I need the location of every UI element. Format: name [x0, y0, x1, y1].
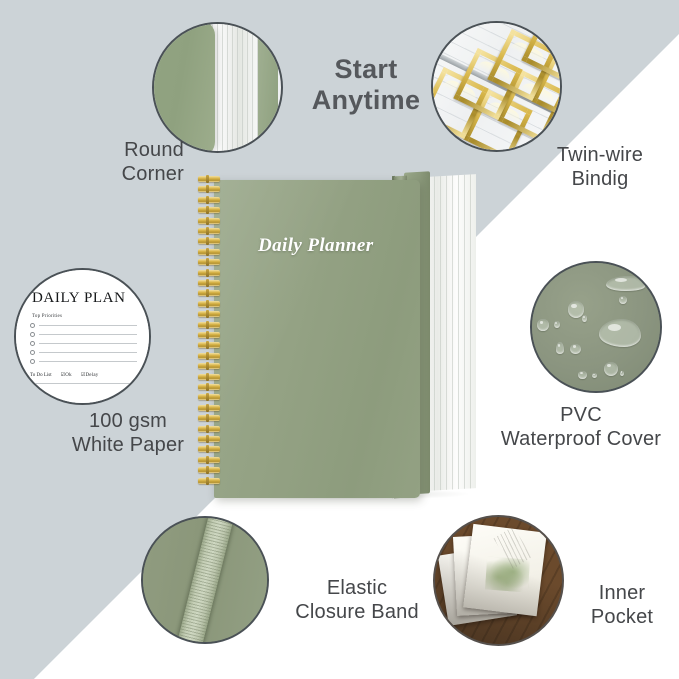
spiral-coil — [198, 186, 220, 192]
spiral-coil — [198, 301, 220, 307]
water-droplet — [604, 362, 618, 376]
spiral-coil — [198, 249, 220, 255]
feature-label-round-corner: Round Corner — [56, 138, 184, 187]
water-droplet — [582, 315, 587, 321]
water-droplet — [620, 371, 624, 376]
spiral-coil — [198, 238, 220, 244]
water-droplet — [556, 342, 564, 354]
daily-plan-title: DAILY PLAN — [32, 290, 137, 307]
spiral-coil — [198, 342, 220, 348]
spiral-coil — [198, 436, 220, 442]
round-corner-icon — [152, 22, 283, 153]
notebook-spiral-binding — [198, 176, 220, 494]
daily-plan-sheet-body: DAILY PLAN Top Priorities — [16, 270, 149, 403]
spiral-coil — [198, 384, 220, 390]
water-droplet — [606, 276, 644, 291]
daily-plan-footer: To Do List ☑Ok ☑Delay — [30, 372, 137, 378]
notebook-cover-sheen — [214, 180, 420, 498]
spiral-coil — [198, 353, 220, 359]
headline-start-anytime: Start Anytime — [306, 54, 426, 116]
water-droplet — [570, 344, 580, 354]
daily-plan-write-line — [39, 334, 137, 335]
daily-plan-write-line — [39, 343, 137, 344]
bullet-icon — [30, 332, 35, 337]
feature-label-pvc-waterproof: PVC Waterproof Cover — [486, 403, 676, 452]
twin-wire-binding-icon — [431, 21, 562, 152]
notebook-product-photo: Daily Planner — [196, 172, 478, 497]
daily-plan-write-line — [39, 361, 137, 362]
spiral-coil — [198, 457, 220, 463]
feature-label-white-paper: 100 gsm White Paper — [52, 409, 204, 458]
round-corner-page-lines — [212, 22, 258, 153]
inner-pocket-cards-icon — [433, 515, 564, 646]
spiral-coil — [198, 218, 220, 224]
daily-plan-write-line — [39, 325, 137, 326]
daily-plan-row — [30, 332, 137, 337]
water-droplet — [619, 296, 627, 304]
spiral-coil — [198, 280, 220, 286]
spiral-coil — [198, 270, 220, 276]
bullet-icon — [30, 341, 35, 346]
water-droplet — [537, 319, 549, 331]
daily-plan-row — [30, 359, 137, 364]
daily-plan-row — [30, 341, 137, 346]
daily-plan-write-line — [39, 352, 137, 353]
bullet-icon — [30, 350, 35, 355]
daily-plan-footer-label: To Do List — [30, 373, 52, 378]
spiral-coil — [198, 322, 220, 328]
spiral-coil — [198, 446, 220, 452]
spiral-coil — [198, 311, 220, 317]
pocket-shadow — [435, 517, 562, 644]
notebook-cover-title: Daily Planner — [258, 235, 408, 257]
daily-plan-section-label: Top Priorities — [32, 314, 137, 319]
spiral-coil — [198, 394, 220, 400]
spiral-coil — [198, 332, 220, 338]
feature-label-elastic-band: Elastic Closure Band — [262, 576, 452, 625]
spiral-coil — [198, 259, 220, 265]
daily-plan-footer-line — [30, 383, 137, 384]
spiral-coil — [198, 374, 220, 380]
daily-plan-option-delay: ☑Delay — [81, 372, 99, 378]
round-corner-front-cover — [152, 22, 215, 153]
spiral-coil — [198, 405, 220, 411]
spiral-coil — [198, 228, 220, 234]
spiral-coil — [198, 415, 220, 421]
spiral-coil — [198, 176, 220, 182]
spiral-coil — [198, 478, 220, 484]
feature-label-inner-pocket: Inner Pocket — [570, 581, 674, 630]
bullet-icon — [30, 323, 35, 328]
daily-plan-row — [30, 323, 137, 328]
spiral-coil — [198, 290, 220, 296]
spiral-coil — [198, 426, 220, 432]
elastic-band-icon — [141, 516, 269, 644]
product-infographic: Round Corner Start Anytime Twin-wire Bin… — [0, 0, 679, 679]
daily-plan-row — [30, 350, 137, 355]
daily-plan-option-ok: ☑Ok — [61, 372, 72, 378]
spiral-coil — [198, 467, 220, 473]
bullet-icon — [30, 359, 35, 364]
spiral-coil — [198, 363, 220, 369]
spiral-coil — [198, 207, 220, 213]
daily-plan-sheet-icon: DAILY PLAN Top Priorities — [14, 268, 151, 405]
spiral-coil — [198, 197, 220, 203]
feature-label-twin-wire: Twin-wire Bindig — [532, 143, 668, 192]
water-droplets-icon — [530, 261, 662, 393]
